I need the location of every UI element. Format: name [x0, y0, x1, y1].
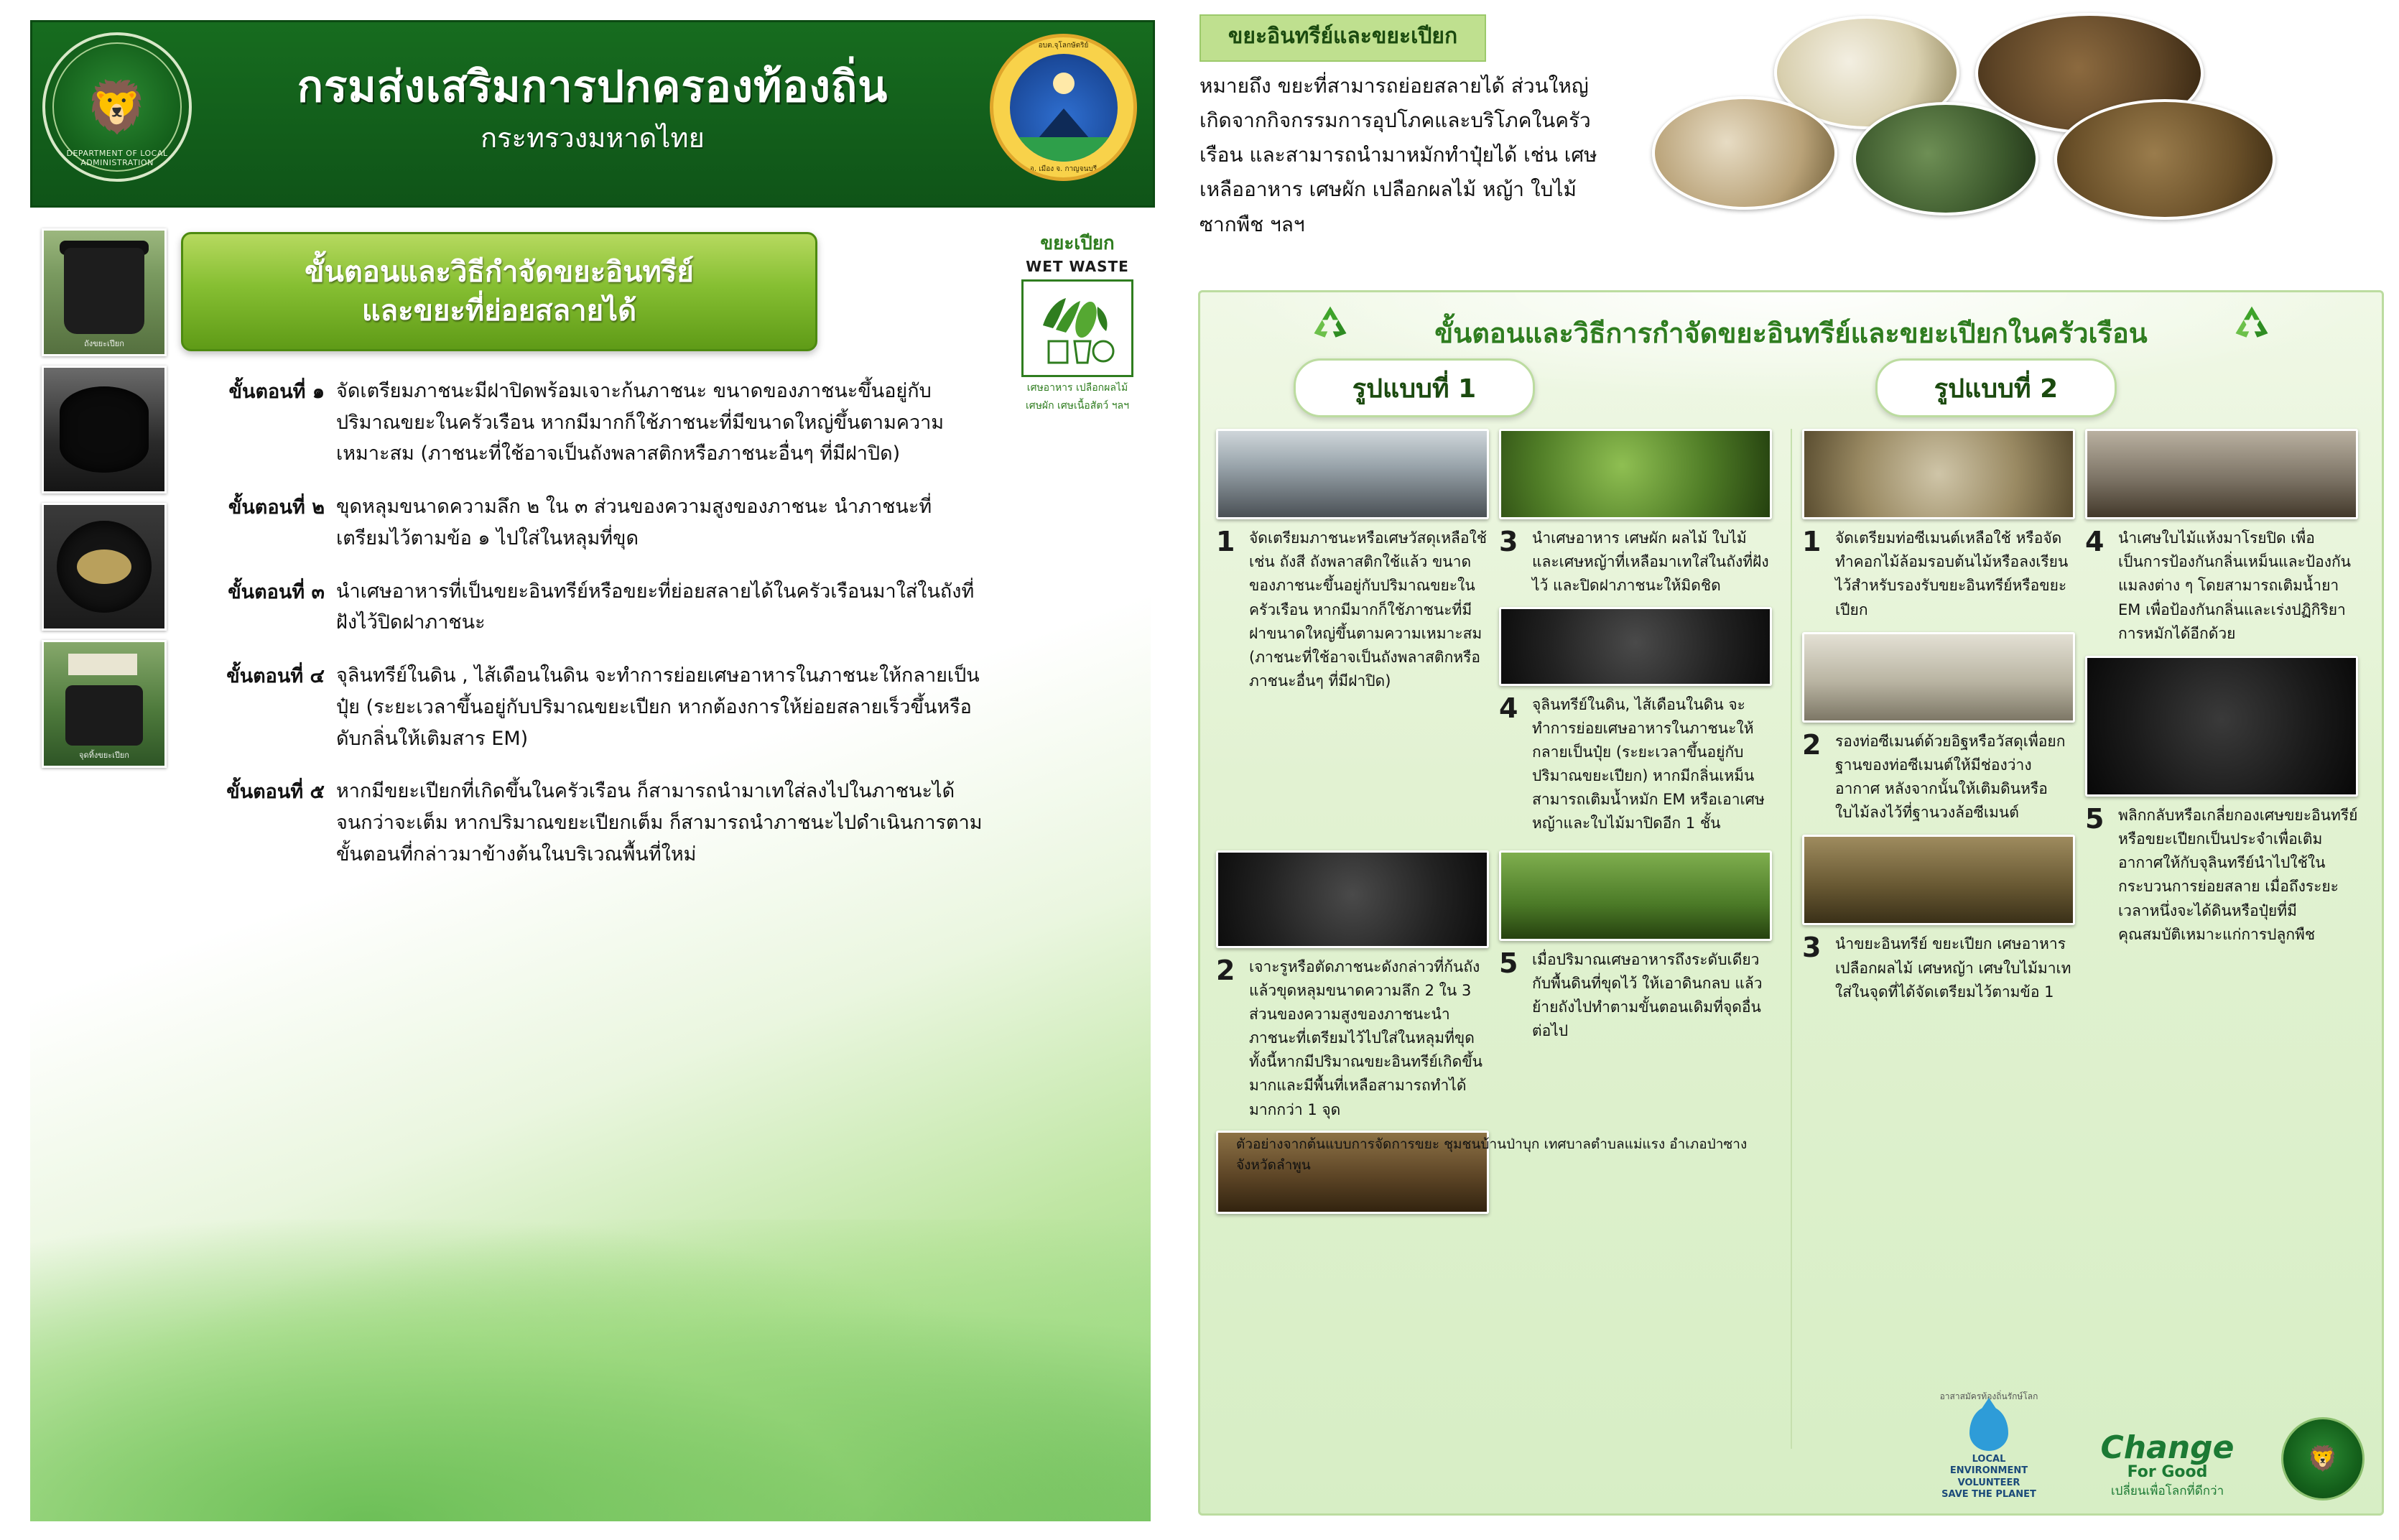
thumb-filling-waste [1802, 835, 2075, 925]
source-caption: ตัวอย่างจากต้นแบบการจัดการขยะ ชุมชนบ้านป… [1236, 1134, 1782, 1177]
form2-step-number: 5 [2085, 804, 2118, 947]
step-text: จุลินทรีย์ในดิน , ไส้เดือนในดิน จะทำการย… [336, 660, 985, 754]
seal-bottom-text: อ. เมือง จ. กาญจนบุรี [993, 164, 1133, 175]
thumb-cut-bin [1216, 850, 1489, 948]
step-text: จัดเตรียมภาชนะมีฝาปิดพร้อมเจาะก้นภาชนะ ข… [336, 376, 985, 470]
form1-step-text: จัดเตรียมภาชนะหรือเศษวัสดุเหลือใช้ เช่น … [1249, 527, 1489, 693]
photo-bin-hole [42, 366, 167, 493]
form-tab-2-label: รูปแบบที่ 2 [1934, 368, 2058, 409]
header-subtitle: กระทรวงมหาดไทย [32, 116, 1153, 159]
oval-photo-bin-leaves [1853, 102, 2038, 215]
form2-step-number: 4 [2085, 527, 2118, 646]
lev-line-3: VOLUNTEER [1924, 1478, 2054, 1489]
form2-step-text: รองท่อซีเมนต์ด้วยอิฐหรือวัสดุเพื่อยกฐานข… [1835, 730, 2075, 825]
form1-step-item: 4 จุลินทรีย์ในดิน, ไส้เดือนในดิน จะทำการ… [1499, 693, 1772, 836]
cfg-forgood-text: For Good [2072, 1464, 2263, 1481]
form2-step-item: 4 นำเศษใบไม้แห้งมาโรยปิด เพื่อเป็นการป้อ… [2085, 527, 2358, 646]
oval-photo-soil-mix [2054, 99, 2275, 220]
step-number: ขั้นตอนที่ ๒ [181, 491, 336, 554]
organic-waste-heading-text: ขยะอินทรีย์และขยะเปียก [1201, 16, 1485, 57]
thumb-containers [1216, 429, 1489, 519]
form1-step-text: นำเศษอาหาร เศษผัก ผลไม้ ใบไม้ และเศษหญ้า… [1532, 527, 1772, 598]
right-poster: ขยะอินทรีย์และขยะเปียก หมายถึง ขยะที่สาม… [1178, 0, 2399, 1540]
department-seal-small-icon: 🦁 [2281, 1417, 2365, 1500]
wet-waste-icon [1021, 279, 1133, 377]
form1-step-number: 2 [1216, 955, 1249, 1122]
form2-step-item: 1 จัดเตรียมท่อซีเมนต์เหลือใช้ หรือจัดทำค… [1802, 527, 2075, 622]
panel-title: ขั้นตอนและวิธีการกำจัดขยะอินทรีย์และขยะเ… [1200, 311, 2382, 355]
form1-step-number: 1 [1216, 527, 1249, 693]
header-title: กรมส่งเสริมการปกครองท้องถิ่น [32, 52, 1153, 121]
lev-line-1: LOCAL [1924, 1454, 2054, 1465]
thumb-cement-ring [1802, 429, 2075, 519]
form1-step-text: เมื่อปริมาณเศษอาหารถึงระดับเดียวกับพื้นด… [1532, 948, 1772, 1044]
thumb-compost-pile [2085, 656, 2358, 797]
seal-top-text: อบต.จุโลกษัตริย์ [993, 40, 1133, 51]
step-item: ขั้นตอนที่ ๕ หากมีขยะเปียกที่เกิดขึ้นในค… [181, 776, 985, 870]
department-header: 🦁 DEPARTMENT OF LOCAL ADMINISTRATION กรม… [30, 20, 1155, 208]
left-banner: ขั้นตอนและวิธีกำจัดขยะอินทรีย์ และขยะที่… [181, 232, 817, 351]
sponsor-logos: อาสาสมัครท้องถิ่นรักษ์โลก LOCAL ENVIRONM… [1924, 1390, 2365, 1500]
step-number: ขั้นตอนที่ ๔ [181, 660, 336, 754]
lev-line-2: ENVIRONMENT [1924, 1465, 2054, 1477]
form2-step-number: 2 [1802, 730, 1835, 825]
left-poster: 🦁 DEPARTMENT OF LOCAL ADMINISTRATION กรม… [0, 0, 1178, 1540]
wet-waste-thai-label: ขยะเปียก [1009, 228, 1146, 258]
step-text: หากมีขยะเปียกที่เกิดขึ้นในครัวเรือน ก็สา… [336, 776, 985, 870]
thumb-food-in-bin [1499, 429, 1772, 519]
left-poster-inner: 🦁 DEPARTMENT OF LOCAL ADMINISTRATION กรม… [14, 13, 1164, 1529]
form1-step-number: 3 [1499, 527, 1532, 598]
lev-logo: อาสาสมัครท้องถิ่นรักษ์โลก LOCAL ENVIRONM… [1924, 1390, 2054, 1500]
form2-step-number: 3 [1802, 932, 1835, 1004]
step-item: ขั้นตอนที่ ๒ ขุดหลุมขนาดความลึก ๒ ใน ๓ ส… [181, 491, 985, 554]
organic-waste-description: หมายถึง ขยะที่สามารถย่อยสลายได้ ส่วนใหญ่… [1199, 69, 1616, 242]
local-authority-seal-icon: อบต.จุโลกษัตริย์ อ. เมือง จ. กาญจนบุรี [990, 34, 1137, 181]
photo-bin-site: จุดทิ้งขยะเปียก [42, 640, 167, 768]
oval-photo-food-scraps [1652, 96, 1837, 210]
step-text: นำเศษอาหารที่เป็นขยะอินทรีย์หรือขยะที่ย่… [336, 576, 985, 639]
cfg-change-text: Change [2072, 1432, 2263, 1464]
photo-label-4: จุดทิ้งขยะเปียก [44, 748, 164, 761]
form-tab-1[interactable]: รูปแบบที่ 1 [1294, 358, 1535, 417]
step-number: ขั้นตอนที่ ๓ [181, 576, 336, 639]
wet-waste-english-label: WET WASTE [1009, 258, 1146, 275]
step-item: ขั้นตอนที่ ๔ จุลินทรีย์ในดิน , ไส้เดือนใ… [181, 660, 985, 754]
lev-line-4: SAVE THE PLANET [1924, 1489, 2054, 1500]
form2-column: 1 จัดเตรียมท่อซีเมนต์เหลือใช้ หรือจัดทำค… [1802, 429, 2370, 1008]
thumb-dry-leaves [2085, 429, 2358, 519]
step-item: ขั้นตอนที่ ๓ นำเศษอาหารที่เป็นขยะอินทรีย… [181, 576, 985, 639]
banner-line-2: และขยะที่ย่อยสลายได้ [362, 292, 636, 330]
waste-photo-ovals [1638, 10, 2385, 161]
poster-page: 🦁 DEPARTMENT OF LOCAL ADMINISTRATION กรม… [0, 0, 2399, 1540]
water-drop-icon [1969, 1406, 2008, 1451]
form-tab-2[interactable]: รูปแบบที่ 2 [1875, 358, 2117, 417]
photo-bin-outdoor: ถังขยะเปียก [42, 228, 167, 356]
left-photo-strip: ถังขยะเปียก จุดทิ้งขยะเปียก [42, 228, 162, 777]
form2-step-number: 1 [1802, 527, 1835, 622]
left-steps-list: ขั้นตอนที่ ๑ จัดเตรียมภาชนะมีฝาปิดพร้อมเ… [181, 376, 985, 892]
step-item: ขั้นตอนที่ ๑ จัดเตรียมภาชนะมีฝาปิดพร้อมเ… [181, 376, 985, 470]
food-scraps-icon [1034, 291, 1120, 366]
form1-step-text: จุลินทรีย์ในดิน, ไส้เดือนในดิน จะทำการย่… [1532, 693, 1772, 836]
banner-line-1: ขั้นตอนและวิธีกำจัดขยะอินทรีย์ [305, 253, 694, 292]
form2-step-item: 2 รองท่อซีเมนต์ด้วยอิฐหรือวัสดุเพื่อยกฐา… [1802, 730, 2075, 825]
form-tab-1-label: รูปแบบที่ 1 [1352, 368, 1476, 409]
form2-step-item: 3 นำขยะอินทรีย์ ขยะเปียก เศษอาหาร เปลือก… [1802, 932, 2075, 1004]
form1-step-number: 4 [1499, 693, 1532, 836]
form1-step-item: 2 เจาะรูหรือตัดภาชนะดังกล่าวที่ก้นถังแล้… [1216, 955, 1489, 1122]
step-number: ขั้นตอนที่ ๑ [181, 376, 336, 470]
form1-step-text: เจาะรูหรือตัดภาชนะดังกล่าวที่ก้นถังแล้วข… [1249, 955, 1489, 1122]
photo-label-1: ถังขยะเปียก [44, 337, 164, 350]
form1-step-item: 3 นำเศษอาหาร เศษผัก ผลไม้ ใบไม้ และเศษหญ… [1499, 527, 1772, 598]
form1-step-item: 1 จัดเตรียมภาชนะหรือเศษวัสดุเหลือใช้ เช่… [1216, 527, 1489, 693]
organic-waste-heading: ขยะอินทรีย์และขยะเปียก [1199, 14, 1486, 62]
form2-step-text: นำขยะอินทรีย์ ขยะเปียก เศษอาหาร เปลือกผล… [1835, 932, 2075, 1004]
step-text: ขุดหลุมขนาดความลึก ๒ ใน ๓ ส่วนของความสูง… [336, 491, 985, 554]
form2-step-text: นำเศษใบไม้แห้งมาโรยปิด เพื่อเป็นการป้องก… [2118, 527, 2358, 646]
thumb-cover-grass [1499, 850, 1772, 941]
thumb-soil-microbes [1499, 607, 1772, 686]
thumb-cement-base [1802, 632, 2075, 723]
photo-bin-food [42, 503, 167, 631]
column-divider [1791, 429, 1792, 1449]
change-for-good-logo: Change For Good เปลี่ยนเพื่อโลกที่ดีกว่า [2072, 1432, 2263, 1500]
wet-waste-caption-2: เศษผัก เศษเนื้อสัตว์ ฯลฯ [1009, 399, 1146, 413]
form2-step-item: 5 พลิกกลับหรือเกลี่ยกองเศษขยะอินทรีย์หรื… [2085, 804, 2358, 947]
form1-step-item: 5 เมื่อปริมาณเศษอาหารถึงระดับเดียวกับพื้… [1499, 948, 1772, 1044]
methods-panel: ขั้นตอนและวิธีการกำจัดขยะอินทรีย์และขยะเ… [1198, 290, 2384, 1516]
cfg-sub-text: เปลี่ยนเพื่อโลกที่ดีกว่า [2072, 1481, 2263, 1500]
form1-step-number: 5 [1499, 948, 1532, 1044]
step-number: ขั้นตอนที่ ๕ [181, 776, 336, 870]
form2-step-text: พลิกกลับหรือเกลี่ยกองเศษขยะอินทรีย์หรือข… [2118, 804, 2358, 947]
wet-waste-caption-1: เศษอาหาร เปลือกผลไม้ [1009, 381, 1146, 395]
form1-column: 1 จัดเตรียมภาชนะหรือเศษวัสดุเหลือใช้ เช่… [1216, 429, 1783, 1214]
form2-step-text: จัดเตรียมท่อซีเมนต์เหลือใช้ หรือจัดทำคอก… [1835, 527, 2075, 622]
wet-waste-badge: ขยะเปียก WET WASTE เศษอาหาร เปลือกผลไม้ … [1009, 228, 1146, 413]
